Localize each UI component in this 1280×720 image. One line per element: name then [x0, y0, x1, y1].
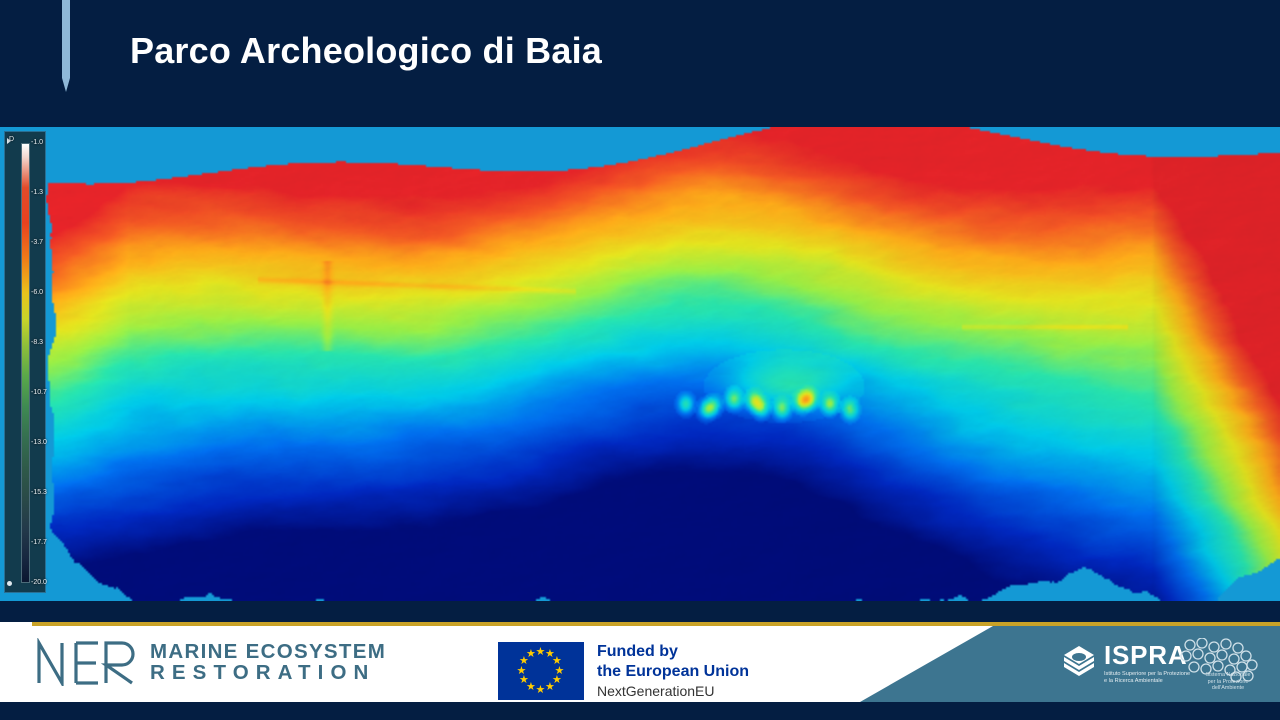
- slide: Parco Archeologico di Baia D -1.0 -1.3 -…: [0, 0, 1280, 720]
- bathymetry-map[interactable]: D -1.0 -1.3 -3.7 -6.0 -8.3 -10.7 -13.0 -…: [0, 127, 1280, 601]
- snpa-line-3: dell'Ambiente: [1184, 685, 1272, 692]
- bathymetry-raster: [0, 127, 1280, 601]
- colorbar-tick: -13.0: [31, 439, 47, 446]
- colorbar-tick: -20.0: [31, 579, 47, 586]
- eu-line-2: the European Union: [597, 662, 749, 682]
- colorbar-tick: -10.7: [31, 389, 47, 396]
- colorbar-tick: -17.7: [31, 539, 47, 546]
- eu-line-3: NextGenerationEU: [597, 683, 749, 700]
- snpa-line-2: per la Protezione: [1184, 679, 1272, 686]
- eu-line-1: Funded by: [597, 642, 749, 662]
- snpa-line-1: Sistema Nazionale: [1184, 672, 1272, 679]
- eu-flag-icon: ★★★★★★★★★★★★: [498, 642, 584, 700]
- eu-funding-logo: ★★★★★★★★★★★★ Funded by the European Unio…: [498, 642, 749, 700]
- ispra-logo: ISPRA Istituto Superiore per la Protezio…: [1062, 642, 1190, 686]
- depth-colorbar: D -1.0 -1.3 -3.7 -6.0 -8.3 -10.7 -13.0 -…: [4, 131, 46, 593]
- colorbar-tick: -3.7: [31, 239, 43, 246]
- footer-bottom-bar: [0, 702, 1280, 720]
- colorbar-gradient: [22, 144, 29, 582]
- eu-funding-text: Funded by the European Union NextGenerat…: [597, 642, 749, 700]
- colorbar-tick: -1.0: [31, 139, 43, 146]
- slide-footer: MARINE ECOSYSTEM RESTORATION ★★★★★★★★★★★…: [0, 622, 1280, 702]
- mer-logo: MARINE ECOSYSTEM RESTORATION: [36, 638, 386, 686]
- colorbar-bottom-marker-icon: [7, 581, 12, 586]
- mer-line-1: MARINE ECOSYSTEM: [150, 641, 386, 662]
- colorbar-tick: -8.3: [31, 339, 43, 346]
- colorbar-tick: -1.3: [31, 189, 43, 196]
- colorbar-tick: -15.3: [31, 489, 47, 496]
- page-title: Parco Archeologico di Baia: [130, 30, 602, 72]
- slide-header: Parco Archeologico di Baia: [0, 0, 1280, 127]
- snpa-logo: Sistema Nazionale per la Protezione dell…: [1176, 638, 1272, 696]
- colorbar-title: D: [9, 136, 14, 143]
- mer-line-2: RESTORATION: [150, 662, 386, 683]
- colorbar-tick: -6.0: [31, 289, 43, 296]
- ispra-mark-icon: [1062, 644, 1096, 678]
- mer-monogram-icon: [36, 638, 136, 686]
- footer-gold-rule: [32, 622, 1280, 626]
- snpa-subtitle: Sistema Nazionale per la Protezione dell…: [1184, 672, 1272, 692]
- mer-wordmark: MARINE ECOSYSTEM RESTORATION: [150, 641, 386, 684]
- title-accent-marker: [62, 0, 70, 92]
